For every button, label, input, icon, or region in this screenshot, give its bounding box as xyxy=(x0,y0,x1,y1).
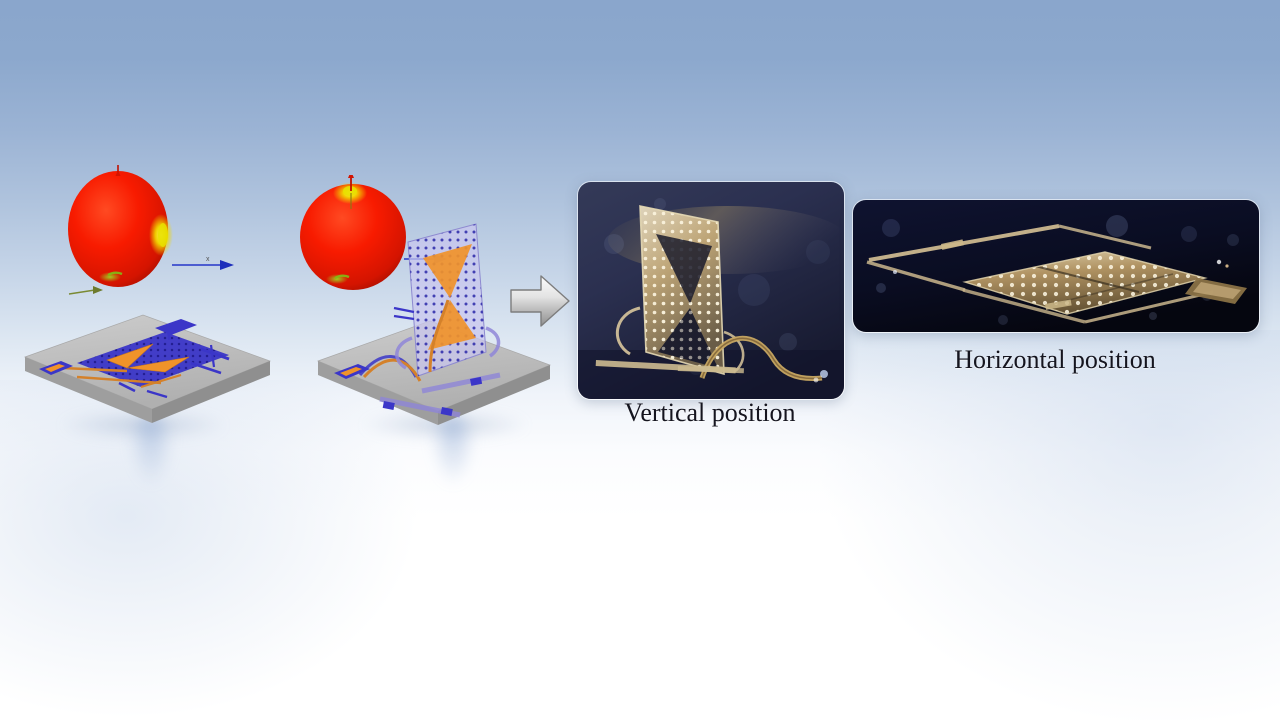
photo-vertical-antenna xyxy=(578,182,844,399)
caption-vertical-position: Vertical position xyxy=(577,398,843,428)
photo-card-horizontal[interactable] xyxy=(852,199,1260,333)
background-tint-right xyxy=(820,330,1280,720)
axis-arrow-x: x xyxy=(170,252,240,278)
axis-arrow-y xyxy=(65,278,105,308)
substrate-board-horizontal xyxy=(15,305,280,435)
svg-text:x: x xyxy=(206,256,210,263)
caption-horizontal-position: Horizontal position xyxy=(852,345,1258,375)
process-arrow-icon xyxy=(505,270,575,332)
simulation-panel-horizontal: x xyxy=(10,160,290,460)
photo-horizontal-antenna xyxy=(853,200,1259,332)
figure-stage: x xyxy=(0,0,1280,720)
photo-card-vertical[interactable] xyxy=(577,181,845,400)
vertical-antenna-board xyxy=(390,220,515,410)
